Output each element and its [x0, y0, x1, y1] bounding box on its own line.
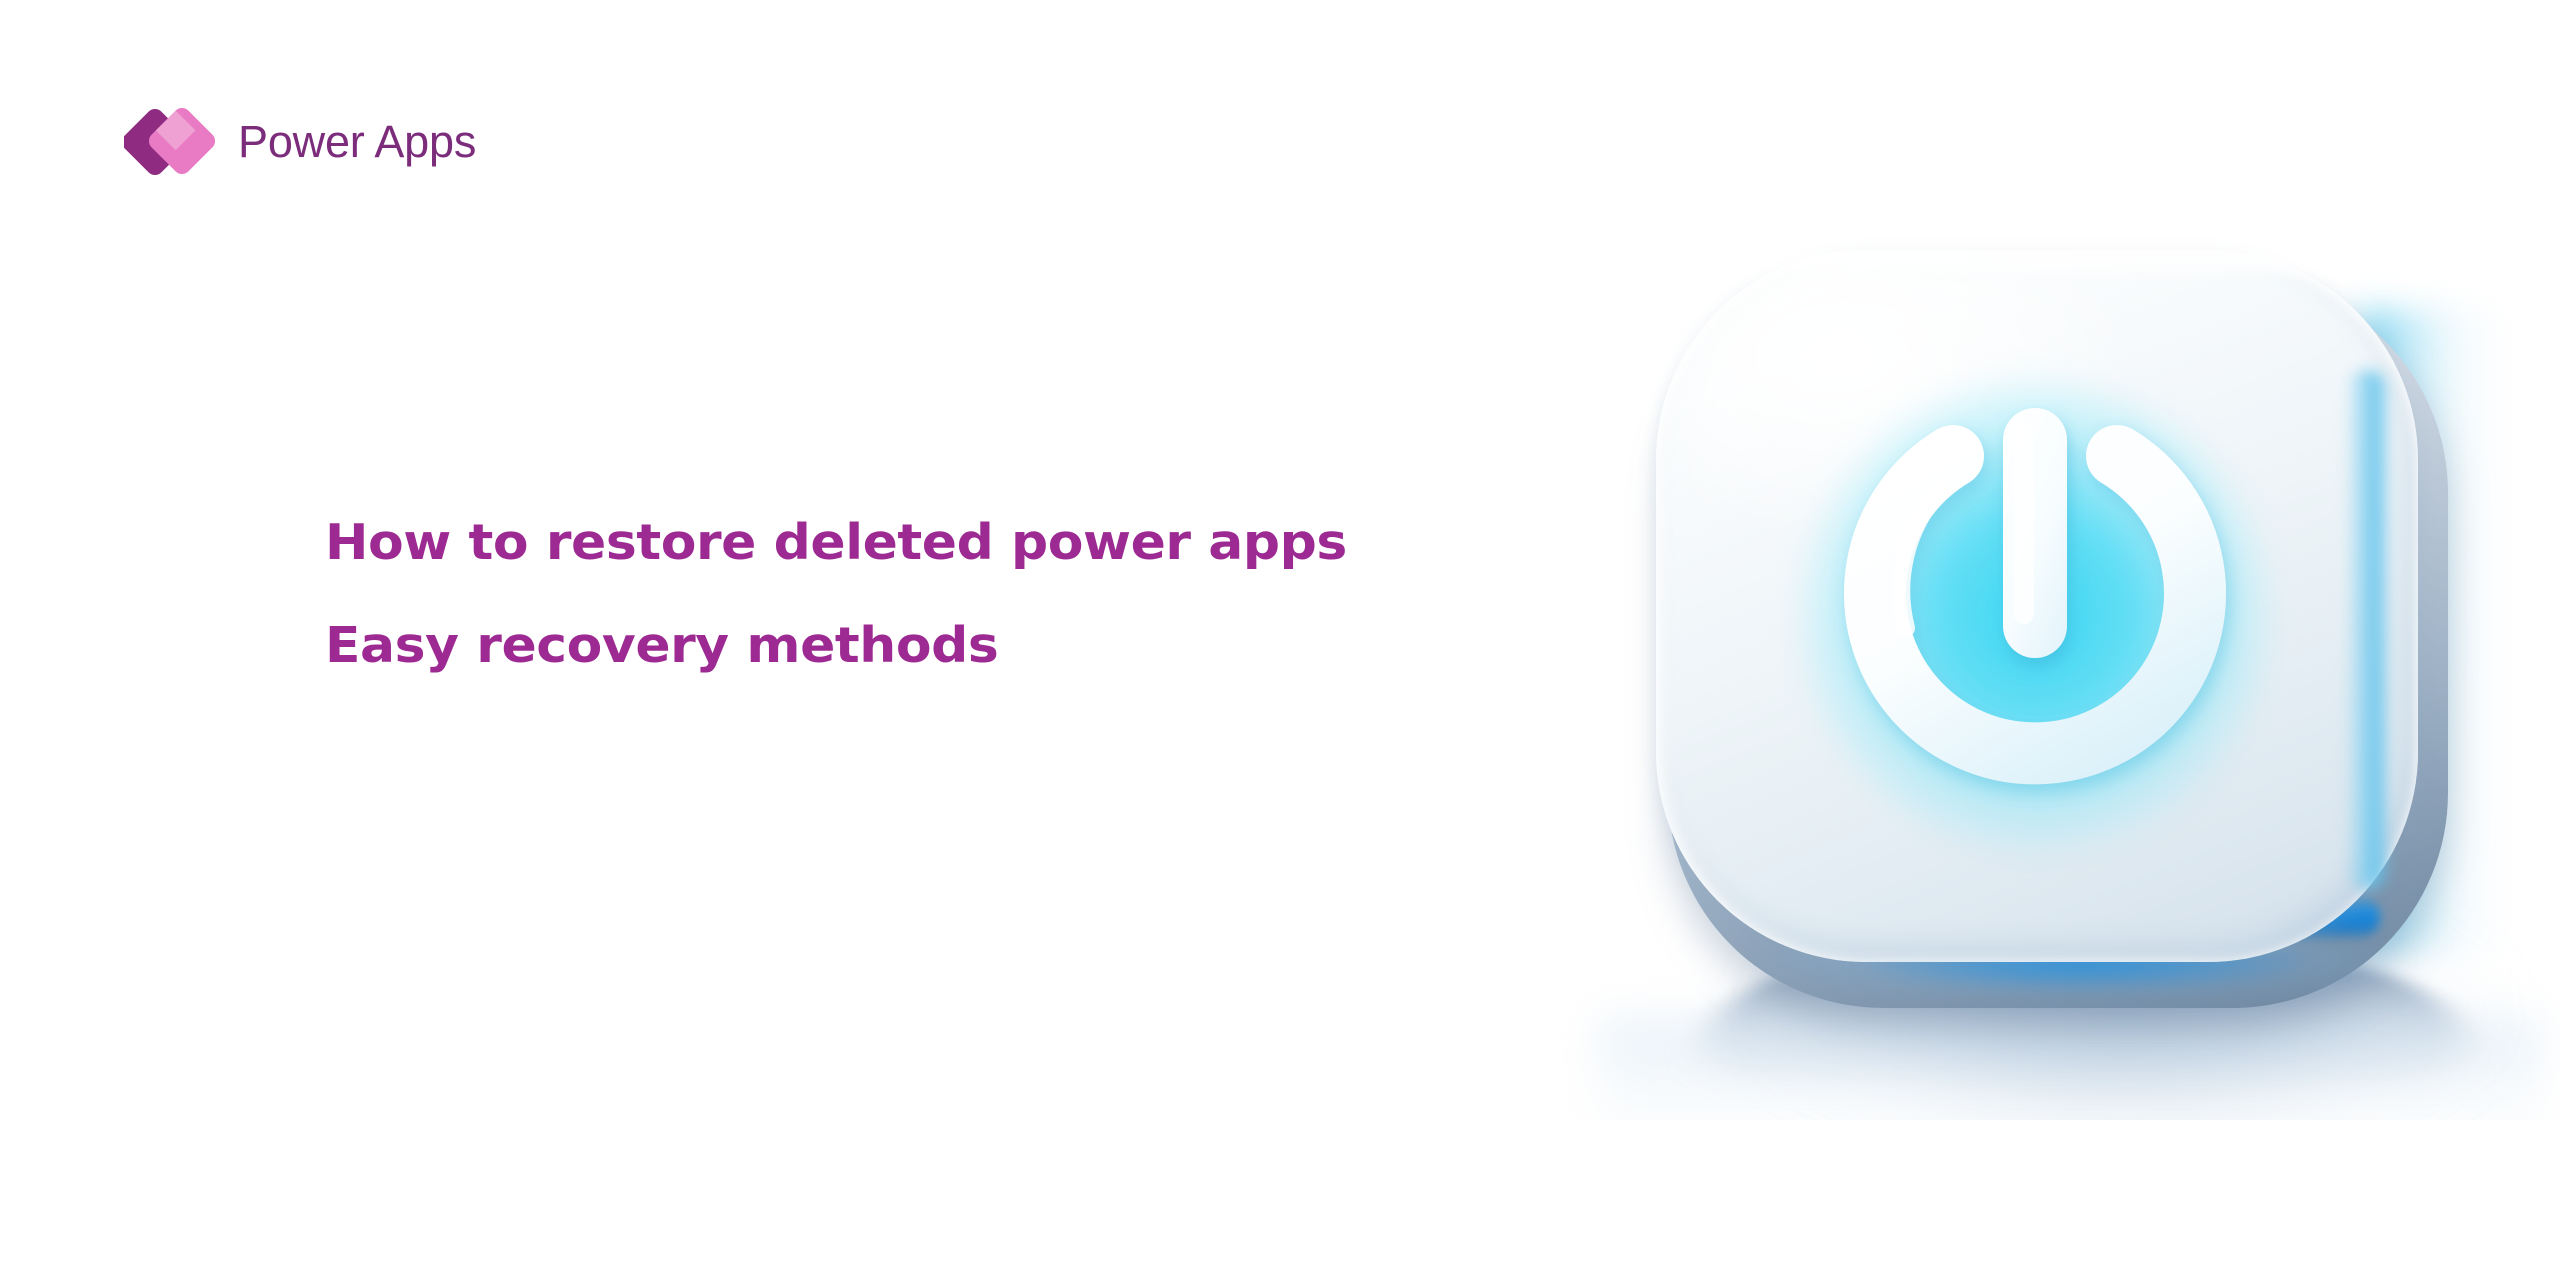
brand-lockup: Power Apps	[124, 95, 476, 187]
headline-block: How to restore deleted power apps Easy r…	[325, 518, 1425, 670]
banner-root: Power Apps How to restore deleted power …	[0, 0, 2560, 1280]
power-button-3d-icon	[1560, 190, 2560, 1120]
top-edge-highlight	[1710, 252, 2340, 278]
brand-name: Power Apps	[238, 119, 476, 164]
floor-light-bloom	[1600, 1020, 2540, 1120]
power-symbol-icon	[1798, 378, 2272, 852]
right-edge-highlight	[2346, 370, 2388, 890]
power-apps-diamond-logo-icon	[124, 95, 216, 187]
headline-line-1: How to restore deleted power apps	[325, 518, 1491, 567]
headline-line-2: Easy recovery methods	[325, 621, 1491, 670]
